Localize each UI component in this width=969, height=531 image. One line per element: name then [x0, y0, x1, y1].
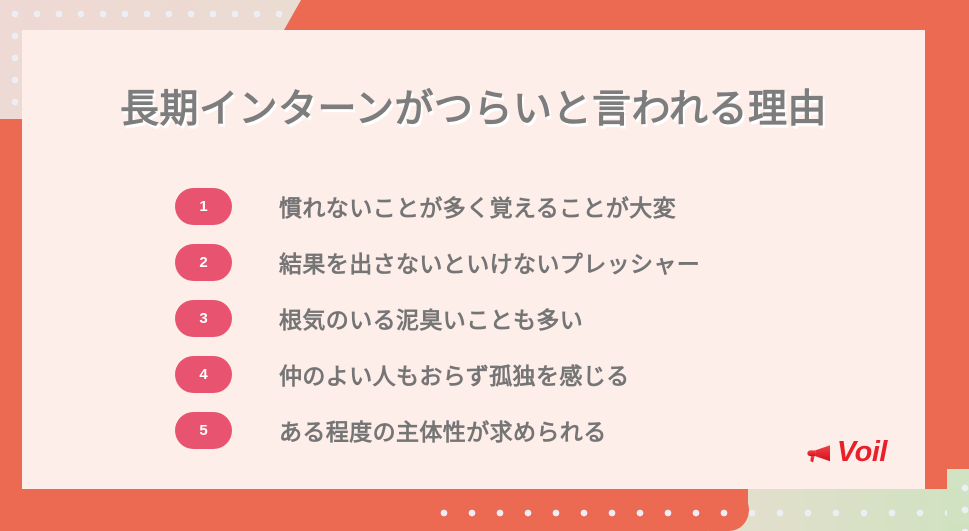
list-item: 1 慣れないことが多く覚えることが大変: [175, 178, 875, 234]
list-item-number-badge: 3: [175, 300, 232, 337]
list-item-label: 慣れないことが多く覚えることが大変: [279, 189, 676, 223]
list-item-number-badge: 1: [175, 188, 232, 225]
list-item: 3 根気のいる泥臭いことも多い: [175, 290, 875, 346]
list-item-label: 結果を出さないといけないプレッシャー: [279, 245, 700, 279]
list-item-number-badge: 2: [175, 244, 232, 281]
list-item: 5 ある程度の主体性が求められる: [175, 402, 875, 458]
list-item-number-badge: 4: [175, 356, 232, 393]
brand-logo: Voil: [806, 438, 887, 467]
page-title: 長期インターンがつらいと言われる理由: [22, 78, 925, 134]
content-card: 長期インターンがつらいと言われる理由 1 慣れないことが多く覚えることが大変 2…: [22, 30, 925, 489]
list-item-number-badge: 5: [175, 412, 232, 449]
list-item-label: 根気のいる泥臭いことも多い: [279, 301, 583, 335]
list-item-label: ある程度の主体性が求められる: [279, 413, 607, 447]
list-item: 4 仲のよい人もおらず孤独を感じる: [175, 346, 875, 402]
logo-text: Voil: [837, 438, 887, 467]
slide-canvas: 長期インターンがつらいと言われる理由 1 慣れないことが多く覚えることが大変 2…: [0, 0, 969, 531]
list-item: 2 結果を出さないといけないプレッシャー: [175, 234, 875, 290]
list-item-label: 仲のよい人もおらず孤独を感じる: [279, 357, 630, 391]
reasons-list: 1 慣れないことが多く覚えることが大変 2 結果を出さないといけないプレッシャー…: [175, 178, 875, 458]
right-strip-dot-pattern: [947, 469, 969, 531]
megaphone-icon: [806, 442, 832, 464]
bottom-right-dot-pattern: [440, 489, 969, 531]
